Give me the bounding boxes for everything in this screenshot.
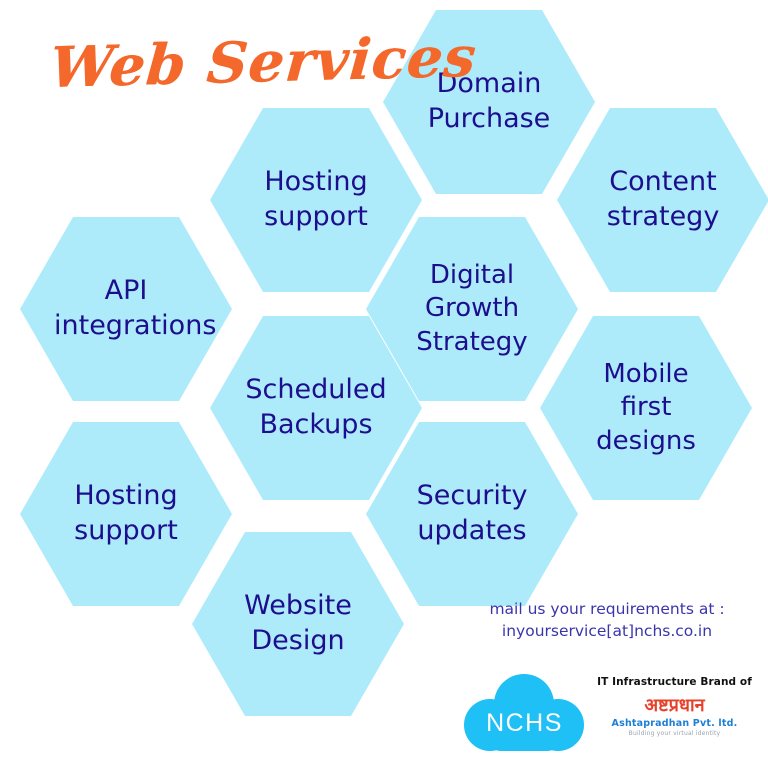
hex-hosting-support-bot[interactable]: Hosting support [20,422,232,606]
hex-label: Website Design [226,589,370,658]
hex-label: Digital Growth Strategy [400,259,544,359]
page-title: Web Services [48,29,479,96]
hex-label: Scheduled Backups [244,373,388,442]
contact-line-1: mail us your requirements at : [489,600,724,618]
hex-label: Hosting support [244,165,388,234]
hex-api-integrations[interactable]: API integrations [20,217,232,401]
hex-label: Security updates [400,479,544,548]
nchs-logo-label: NCHS [462,709,587,738]
hexagon-grid: Domain PurchaseHosting supportContent st… [0,0,768,768]
poster-canvas: Domain PurchaseHosting supportContent st… [0,0,768,768]
brand-company-label: Ashtapradhan Pvt. ltd. [587,718,762,729]
nchs-cloud-logo: NCHS [462,668,587,764]
hex-label: Mobile first designs [574,358,718,458]
hex-content-strategy[interactable]: Content strategy [557,108,768,292]
parent-brand-block: IT Infrastructure Brand of अष्टप्रधान As… [587,668,762,737]
contact-email: inyourservice[at]nchs.co.in [462,620,752,642]
hex-mobile-first[interactable]: Mobile first designs [540,316,752,500]
brand-tagline-label: Building your virtual identity [587,730,762,737]
contact-info: mail us your requirements at : inyourser… [462,598,752,643]
brand-prefix-label: IT Infrastructure Brand of [587,676,762,688]
hex-hosting-support-top[interactable]: Hosting support [210,108,422,292]
hex-label: API integrations [54,274,198,343]
hex-website-design[interactable]: Website Design [192,532,404,716]
logo-bar: NCHS IT Infrastructure Brand of अष्टप्रध… [462,668,762,768]
ashtapradhan-devanagari-logo: अष्टप्रधान [587,697,762,715]
hex-label: Content strategy [591,165,735,234]
hex-label: Hosting support [54,479,198,548]
